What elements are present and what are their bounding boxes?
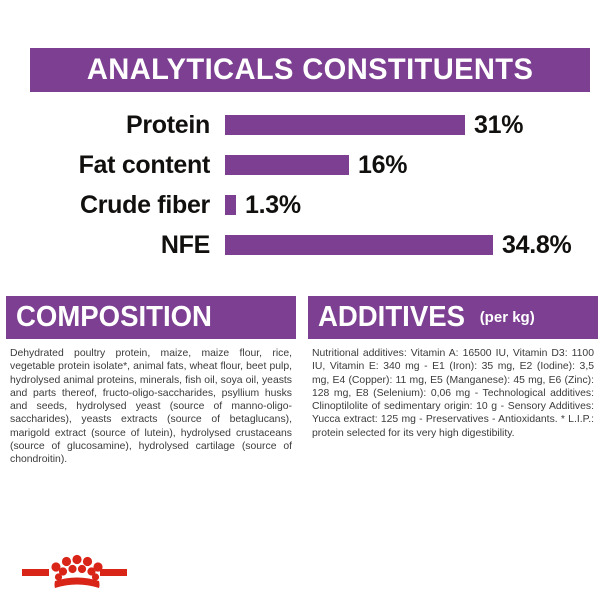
chart-value-fat-content: 16% [358, 153, 407, 178]
chart-value-protein: 31% [474, 113, 523, 138]
composition-header-band: COMPOSITION [6, 296, 296, 339]
constituents-bar-chart: Protein 31% Fat content 16% Crude fiber … [0, 106, 600, 266]
chart-bar-crude-fiber [225, 195, 236, 215]
analytical-constituents-header-band: ANALYTICALS CONSTITUENTS [30, 48, 590, 92]
composition-panel: COMPOSITION Dehydrated poultry protein, … [6, 296, 296, 467]
chart-label-nfe: NFE [0, 233, 210, 258]
chart-value-crude-fiber: 1.3% [245, 193, 301, 218]
crown-icon [22, 550, 127, 592]
royal-canin-crown-logo [22, 550, 127, 592]
chart-bar-wrap-nfe: 34.8% [225, 233, 600, 258]
chart-bar-fat-content [225, 155, 349, 175]
composition-title: COMPOSITION [16, 303, 212, 332]
chart-bar-nfe [225, 235, 493, 255]
composition-body-text: Dehydrated poultry protein, maize, maize… [6, 339, 296, 467]
chart-row-protein: Protein 31% [0, 106, 600, 144]
analytical-constituents-section: ANALYTICALS CONSTITUENTS Protein 31% Fat… [0, 0, 600, 282]
additives-title: ADDITIVES [318, 303, 465, 332]
additives-header-band: ADDITIVES (per kg) [308, 296, 598, 339]
chart-row-fat-content: Fat content 16% [0, 146, 600, 184]
chart-label-protein: Protein [0, 113, 210, 138]
chart-label-crude-fiber: Crude fiber [0, 193, 210, 218]
info-panels: COMPOSITION Dehydrated poultry protein, … [0, 296, 600, 467]
additives-panel: ADDITIVES (per kg) Nutritional additives… [308, 296, 598, 467]
chart-bar-wrap-fat-content: 16% [225, 153, 600, 178]
chart-bar-wrap-protein: 31% [225, 113, 600, 138]
additives-title-suffix: (per kg) [480, 310, 535, 325]
chart-bar-protein [225, 115, 465, 135]
chart-label-fat-content: Fat content [0, 153, 210, 178]
analytical-constituents-title: ANALYTICALS CONSTITUENTS [87, 53, 533, 87]
chart-row-crude-fiber: Crude fiber 1.3% [0, 186, 600, 224]
additives-body-text: Nutritional additives: Vitamin A: 16500 … [308, 339, 598, 440]
chart-row-nfe: NFE 34.8% [0, 226, 600, 264]
chart-bar-wrap-crude-fiber: 1.3% [225, 193, 600, 218]
chart-value-nfe: 34.8% [502, 233, 571, 258]
